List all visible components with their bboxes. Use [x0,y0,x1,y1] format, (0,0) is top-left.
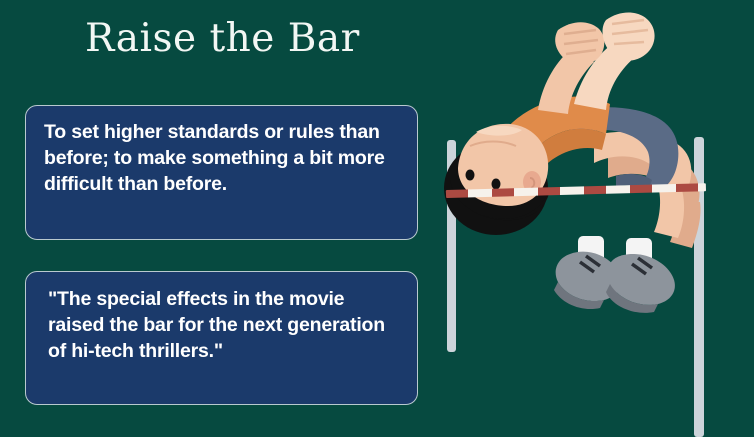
eye-left-icon [466,170,475,181]
near-shin-shape [654,186,684,238]
high-jumper-illustration [430,0,754,437]
example-card: "The special effects in the movie raised… [25,271,418,405]
definition-text: To set higher standards or rules than be… [44,120,399,198]
athlete-figure-icon [430,0,754,437]
definition-card: To set higher standards or rules than be… [25,105,418,240]
slide-canvas: Raise the Bar To set higher standards or… [0,0,754,437]
page-title: Raise the Bar [85,18,425,61]
example-text: "The special effects in the movie raised… [48,287,399,365]
